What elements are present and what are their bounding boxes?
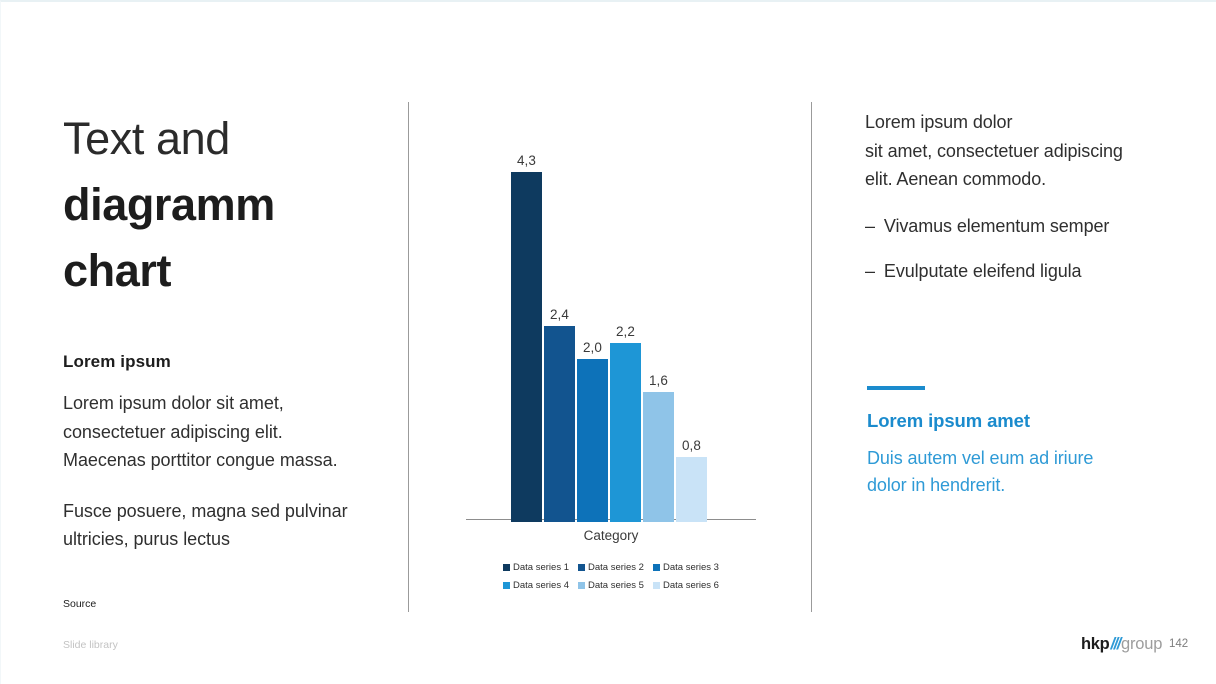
chart-bar: 0,8 — [676, 135, 707, 522]
legend-swatch-icon — [503, 582, 510, 589]
dash-marker: – — [865, 213, 875, 239]
right-content-column: Lorem ipsum dolor sit amet, consectetuer… — [865, 108, 1165, 284]
chart-bar: 1,6 — [643, 135, 674, 522]
bar-chart: 4,32,42,02,21,60,8 Category Data series … — [441, 132, 781, 602]
page-number: 142 — [1169, 638, 1188, 650]
chart-bar-value-label: 2,4 — [537, 307, 583, 322]
chart-bar: 2,4 — [544, 135, 575, 522]
chart-legend-label: Data series 1 — [513, 562, 569, 573]
chart-bar-rect — [610, 343, 641, 522]
chart-plot-area: 4,32,42,02,21,60,8 — [441, 132, 781, 522]
chart-bar: 4,3 — [511, 135, 542, 522]
chart-bar-value-label: 1,6 — [636, 373, 682, 388]
chart-bar-value-label: 2,0 — [570, 340, 616, 355]
page-title-line-1: Text and — [63, 106, 363, 172]
legend-swatch-icon — [578, 564, 585, 571]
chart-legend-label: Data series 2 — [588, 562, 644, 573]
callout-body-text: Duis autem vel eum ad iriure dolor in he… — [867, 445, 1157, 499]
divider-right — [811, 102, 812, 612]
chart-bar-rect — [577, 359, 608, 522]
body-paragraph-2: Fusce posuere, magna sed pulvinar ultric… — [63, 497, 363, 554]
chart-bar-value-label: 2,2 — [603, 324, 649, 339]
chart-bar-rect — [511, 172, 542, 522]
slide-canvas: Text and diagramm chart Lorem ipsum Lore… — [0, 0, 1216, 684]
logo-hkp-text: hkp — [1081, 635, 1109, 654]
callout-accent-rule — [867, 386, 925, 390]
chart-bar: 2,2 — [610, 135, 641, 522]
hkp-group-logo: hkp /// group — [1081, 635, 1162, 654]
legend-swatch-icon — [578, 582, 585, 589]
legend-swatch-icon — [503, 564, 510, 571]
callout-heading: Lorem ipsum amet — [867, 410, 1157, 432]
logo-group-text: group — [1121, 635, 1162, 654]
chart-bar-value-label: 0,8 — [669, 438, 715, 453]
chart-bar-rect — [643, 392, 674, 522]
source-label: Source — [63, 598, 96, 610]
chart-legend-label: Data series 5 — [588, 580, 644, 591]
chart-bar-value-label: 4,3 — [504, 153, 550, 168]
chart-legend-item[interactable]: Data series 3 — [653, 562, 719, 573]
left-content-column: Text and diagramm chart Lorem ipsum Lore… — [63, 106, 363, 554]
page-title-line-3: chart — [63, 238, 363, 304]
chart-legend: Data series 1Data series 2Data series 3D… — [466, 562, 756, 598]
legend-swatch-icon — [653, 582, 660, 589]
chart-legend-item[interactable]: Data series 6 — [653, 580, 719, 591]
chart-legend-item[interactable]: Data series 1 — [503, 562, 569, 573]
chart-legend-label: Data series 4 — [513, 580, 569, 591]
lead-heading: Lorem ipsum — [63, 352, 363, 372]
callout-block: Lorem ipsum amet Duis autem vel eum ad i… — [867, 386, 1157, 499]
right-bullet-1-text: Vivamus elementum semper — [884, 213, 1109, 239]
page-title-line-2: diagramm — [63, 172, 363, 238]
right-intro-paragraph: Lorem ipsum dolor sit amet, consectetuer… — [865, 108, 1165, 194]
chart-x-axis-label: Category — [466, 528, 756, 543]
chart-bar-rect — [676, 457, 707, 522]
chart-legend-label: Data series 3 — [663, 562, 719, 573]
dash-marker: – — [865, 258, 875, 284]
chart-legend-item[interactable]: Data series 2 — [578, 562, 644, 573]
right-bullet-2-text: Evulputate eleifend ligula — [884, 258, 1082, 284]
logo-slashes-icon: /// — [1109, 635, 1121, 654]
chart-legend-label: Data series 6 — [663, 580, 719, 591]
chart-legend-item[interactable]: Data series 4 — [503, 580, 569, 591]
chart-legend-row: Data series 4Data series 5Data series 6 — [466, 580, 756, 591]
legend-swatch-icon — [653, 564, 660, 571]
body-paragraph-1: Lorem ipsum dolor sit amet, consectetuer… — [63, 389, 363, 475]
divider-left — [408, 102, 409, 612]
chart-legend-item[interactable]: Data series 5 — [578, 580, 644, 591]
right-bullet-2: – Evulputate eleifend ligula — [865, 258, 1165, 284]
chart-bar-rect — [544, 326, 575, 522]
chart-legend-row: Data series 1Data series 2Data series 3 — [466, 562, 756, 573]
right-bullet-1: – Vivamus elementum semper — [865, 213, 1165, 239]
slide-library-label: Slide library — [63, 639, 118, 651]
